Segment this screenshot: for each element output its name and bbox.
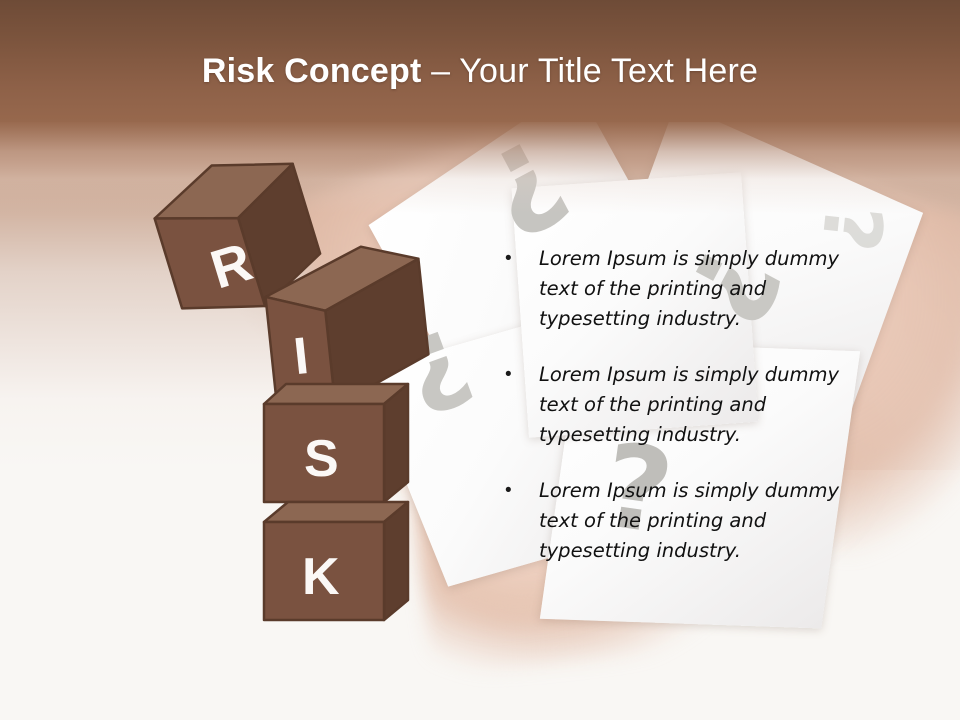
list-item: • Lorem Ipsum is simply dummy text of th… (505, 476, 855, 566)
page-title-light: – Your Title Text Here (422, 52, 759, 90)
cube-letter-text: K (302, 548, 340, 606)
cube-letter-k: K (256, 492, 426, 642)
presentation-slide: ? ? ? ? ? Risk Concept – Your Title Text… (0, 0, 960, 720)
risk-blocks-graphic: R I S (0, 0, 460, 680)
bullet-marker-icon: • (505, 244, 539, 274)
list-item: • Lorem Ipsum is simply dummy text of th… (505, 360, 855, 450)
cube-letter-text: S (304, 430, 339, 488)
bullet-marker-icon: • (505, 476, 539, 506)
bullet-marker-icon: • (505, 360, 539, 390)
list-item-text: Lorem Ipsum is simply dummy text of the … (539, 244, 855, 334)
list-item-text: Lorem Ipsum is simply dummy text of the … (539, 476, 855, 566)
list-item-text: Lorem Ipsum is simply dummy text of the … (539, 360, 855, 450)
list-item: • Lorem Ipsum is simply dummy text of th… (505, 244, 855, 334)
body-bullet-list: • Lorem Ipsum is simply dummy text of th… (505, 244, 855, 592)
